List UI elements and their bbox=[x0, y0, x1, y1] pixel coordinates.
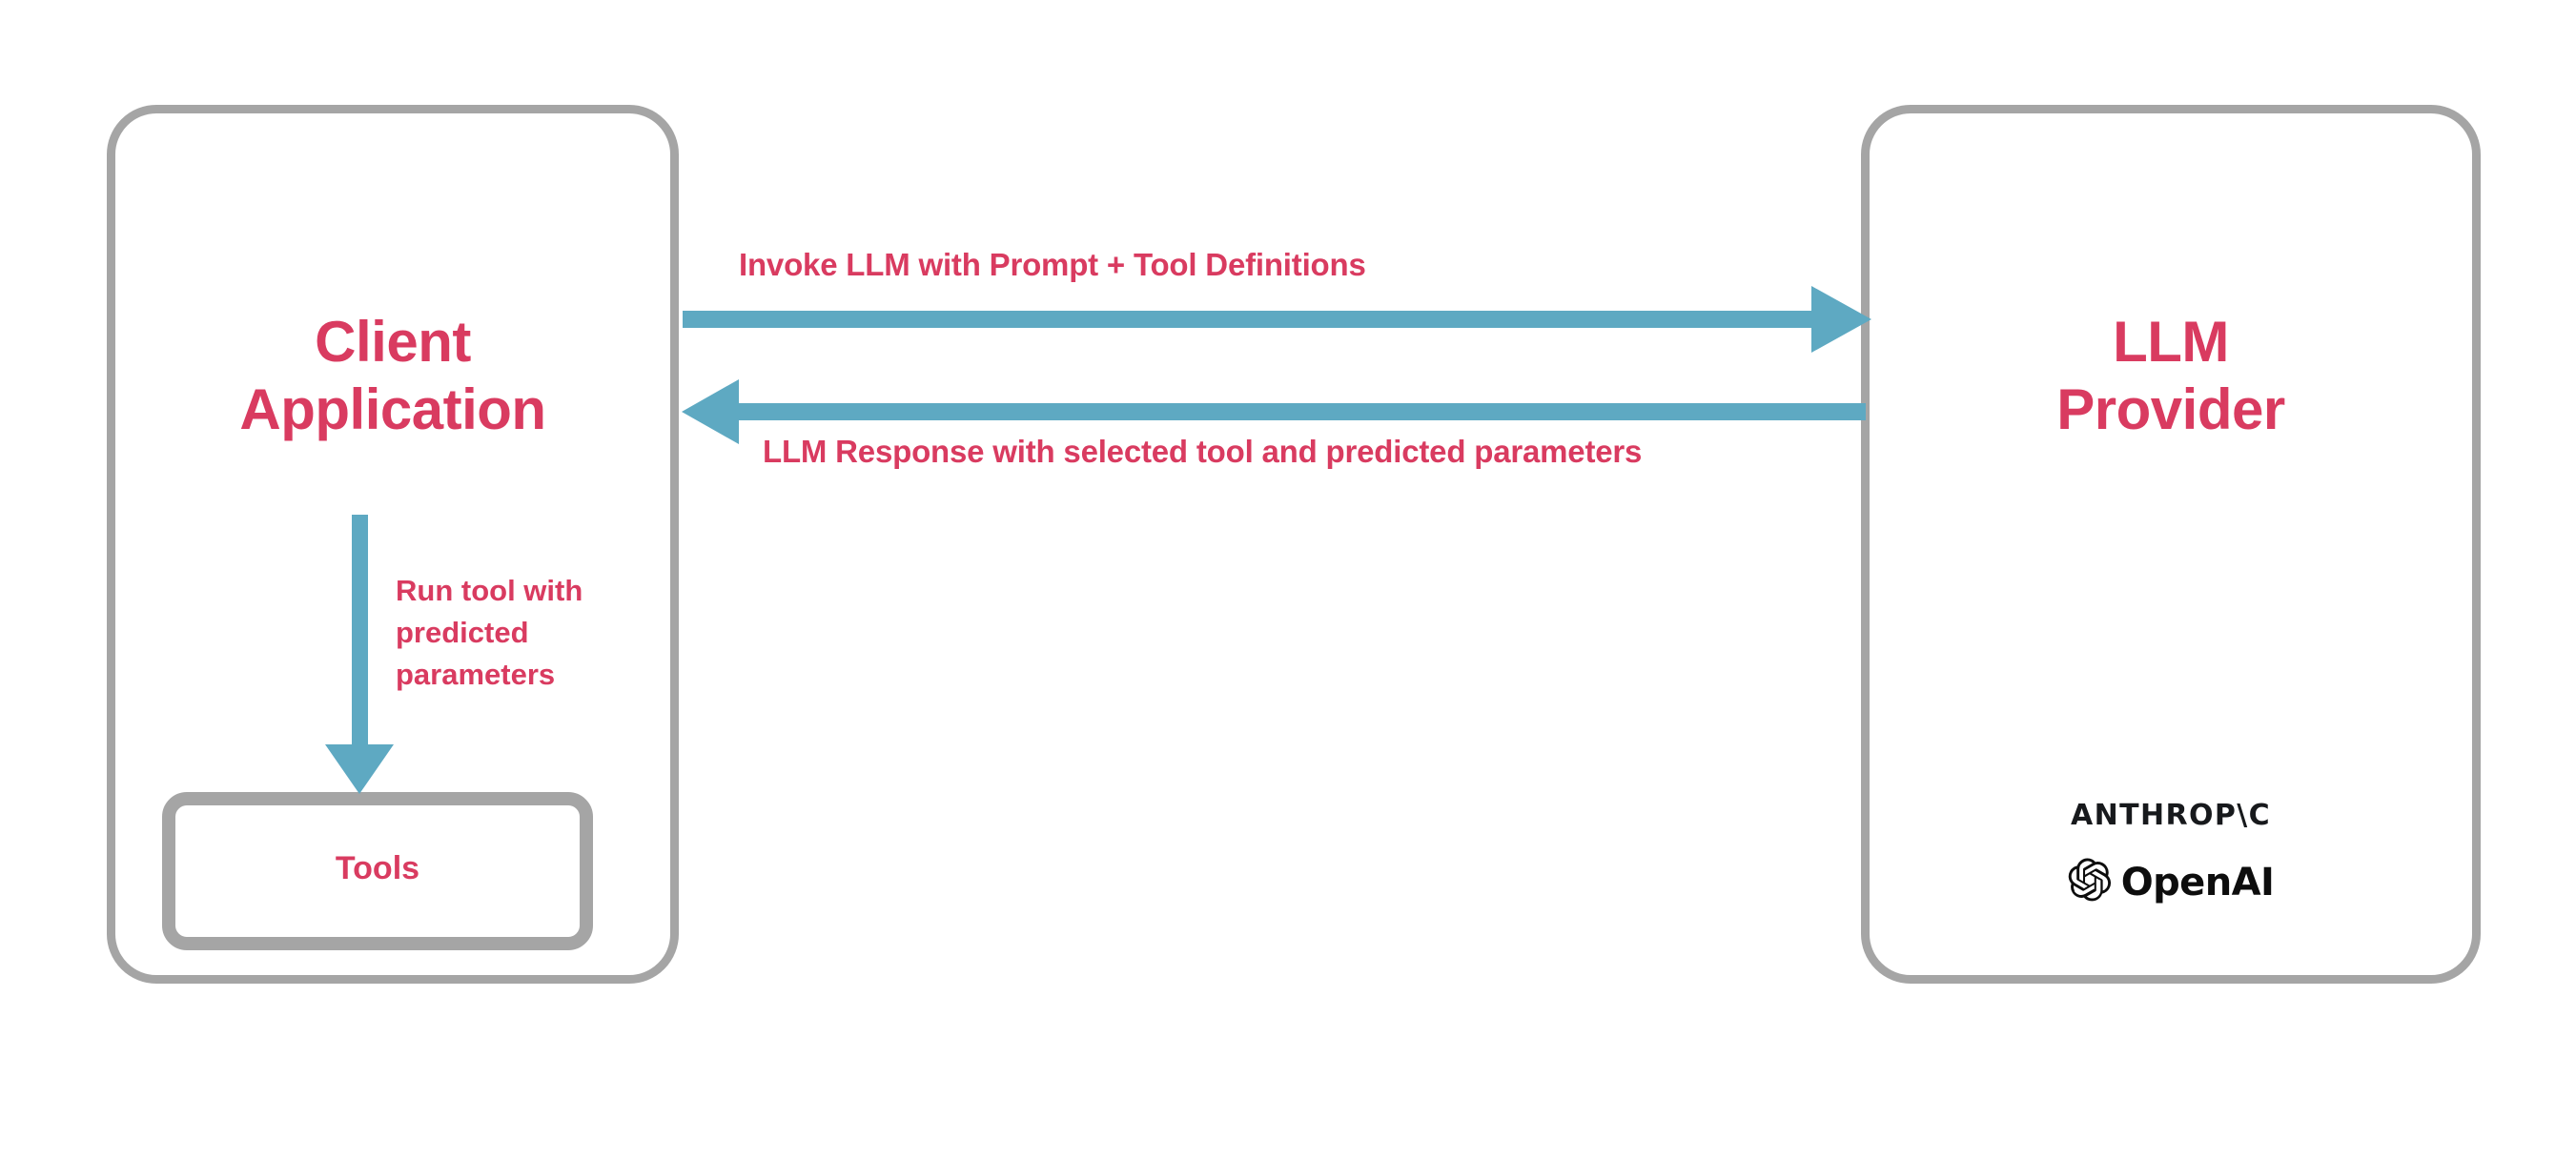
llm-response-arrow-label: LLM Response with selected tool and pred… bbox=[763, 434, 1642, 470]
client-application-title: Client Application bbox=[107, 309, 679, 444]
run-tool-arrow-label: Run tool with predicted parameters bbox=[396, 570, 682, 696]
tools-label: Tools bbox=[162, 850, 593, 887]
llm-provider-box bbox=[1861, 105, 2481, 984]
openai-logo: OpenAI bbox=[1861, 858, 2481, 906]
openai-mark-icon bbox=[2068, 858, 2112, 906]
invoke-llm-arrow bbox=[683, 286, 1871, 353]
openai-wordmark: OpenAI bbox=[2121, 861, 2274, 905]
diagram-canvas: Client Application Tools LLM Provider AN… bbox=[0, 0, 2576, 1159]
anthropic-logo: ANTHROP\C bbox=[1861, 799, 2481, 832]
llm-provider-title: LLM Provider bbox=[1861, 309, 2481, 444]
invoke-llm-arrow-label: Invoke LLM with Prompt + Tool Definition… bbox=[739, 247, 1366, 283]
